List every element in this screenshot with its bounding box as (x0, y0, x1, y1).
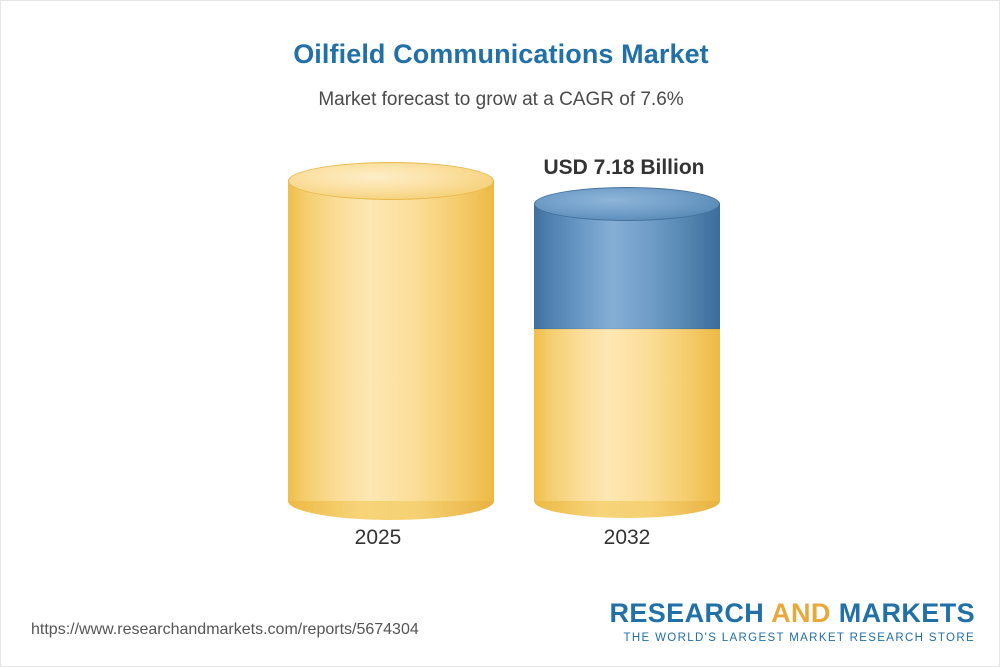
bar-2032-segment-seam (534, 328, 720, 330)
page-subtitle: Market forecast to grow at a CAGR of 7.6… (1, 89, 1000, 111)
bar-2025 (288, 181, 494, 501)
bar-chart: USD 4.29 Billion 2025 USD 7.18 Billion 2… (1, 131, 1000, 581)
brand-logo-tagline: THE WORLD'S LARGEST MARKET RESEARCH STOR… (609, 632, 975, 644)
chart-page: Oilfield Communications Market Market fo… (0, 0, 1000, 667)
value-label-2032: USD 7.18 Billion (464, 156, 784, 180)
bar-2032-segment-top (534, 204, 720, 329)
brand-logo-research: RESEARCH (609, 598, 771, 628)
page-title: Oilfield Communications Market (1, 39, 1000, 70)
brand-logo-markets: MARKETS (831, 598, 975, 628)
brand-logo-wordmark: RESEARCH AND MARKETS (609, 598, 975, 629)
brand-logo-and: AND (771, 598, 831, 628)
bar-2032-segment-base (534, 329, 720, 501)
source-url[interactable]: https://www.researchandmarkets.com/repor… (31, 621, 419, 639)
bar-2032 (534, 204, 720, 501)
bar-2032-top-cap (534, 187, 720, 221)
category-label-2032: 2032 (467, 526, 787, 550)
bar-2025-body (288, 181, 494, 501)
brand-logo: RESEARCH AND MARKETS THE WORLD'S LARGEST… (609, 598, 975, 644)
